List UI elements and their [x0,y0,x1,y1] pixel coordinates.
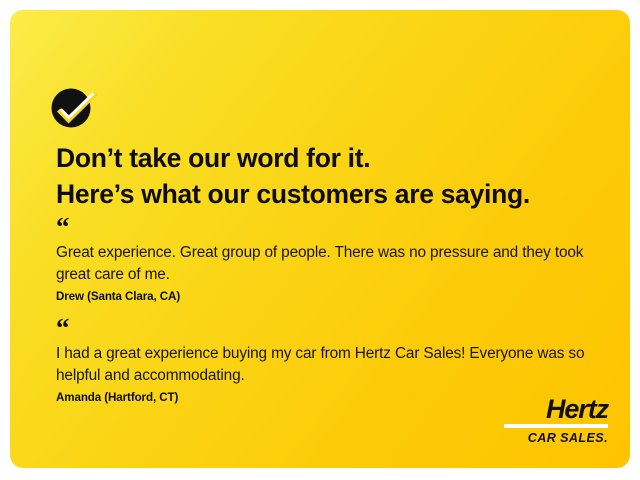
hertz-car-sales-logo: Hertz CAR SALES. [504,395,608,445]
testimonial-item: “ I had a great experience buying my car… [56,320,616,405]
logo-wordmark: Hertz [504,395,608,423]
headline-line-1: Don’t take our word for it. [56,140,616,176]
testimonial-item: “ Great experience. Great group of peopl… [56,219,616,304]
logo-tagline: CAR SALES. [504,431,608,445]
testimonial-author: Drew (Santa Clara, CA) [56,289,616,304]
testimonial-list: “ Great experience. Great group of peopl… [56,219,616,405]
check-circle-icon [47,82,107,134]
page-title: Don’t take our word for it. Here’s what … [56,140,616,212]
quote-mark-icon: “ [56,320,616,337]
quote-mark-icon: “ [56,219,616,236]
testimonial-text: Great experience. Great group of people.… [56,242,601,285]
headline-line-2: Here’s what our customers are saying. [56,176,616,212]
logo-underline-bar [504,424,608,428]
screenshot-canvas: Don’t take our word for it. Here’s what … [0,0,640,480]
testimonial-card: Don’t take our word for it. Here’s what … [10,10,630,468]
testimonial-text: I had a great experience buying my car f… [56,343,601,386]
